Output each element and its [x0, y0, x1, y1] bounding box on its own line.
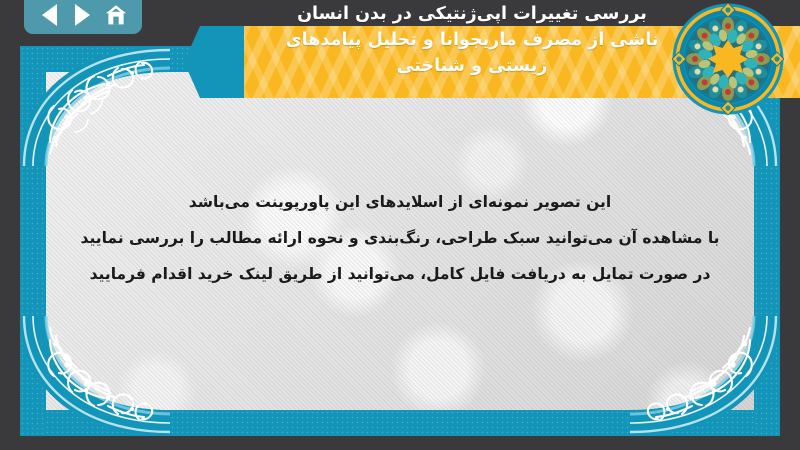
triangle-left-icon	[42, 4, 57, 26]
back-button[interactable]	[37, 2, 63, 28]
presentation-stage: این تصویر نمونه‌ای از اسلایدهای این پاور…	[0, 0, 800, 450]
forward-button[interactable]	[70, 2, 96, 28]
title-line-3: زیستی و شناختی	[242, 53, 702, 79]
body-line-3: در صورت تمایل به دریافت فایل کامل، می‌تو…	[76, 256, 724, 292]
title-line-1: بررسی تغییرات اپی‌ژنتیکی در بدن انسان	[242, 1, 702, 27]
body-line-2: با مشاهده آن می‌توانید سبک طراحی، رنگ‌بن…	[76, 220, 724, 256]
home-icon	[104, 3, 128, 27]
triangle-right-icon	[75, 4, 90, 26]
slide-body-text: این تصویر نمونه‌ای از اسلایدهای این پاور…	[76, 184, 724, 292]
slide-canvas: این تصویر نمونه‌ای از اسلایدهای این پاور…	[20, 46, 780, 436]
persian-mandala-medallion-icon	[672, 3, 784, 115]
home-button[interactable]	[103, 2, 129, 28]
banner-arrow-accent	[184, 26, 244, 98]
body-line-1: این تصویر نمونه‌ای از اسلایدهای این پاور…	[76, 184, 724, 220]
title-line-2: ناشی از مصرف ماریجوانا و تحلیل پیامدهای	[242, 27, 702, 53]
frame-band-bottom	[20, 410, 780, 436]
navigation-toolbar	[24, 0, 142, 34]
frame-band-left	[20, 46, 46, 436]
